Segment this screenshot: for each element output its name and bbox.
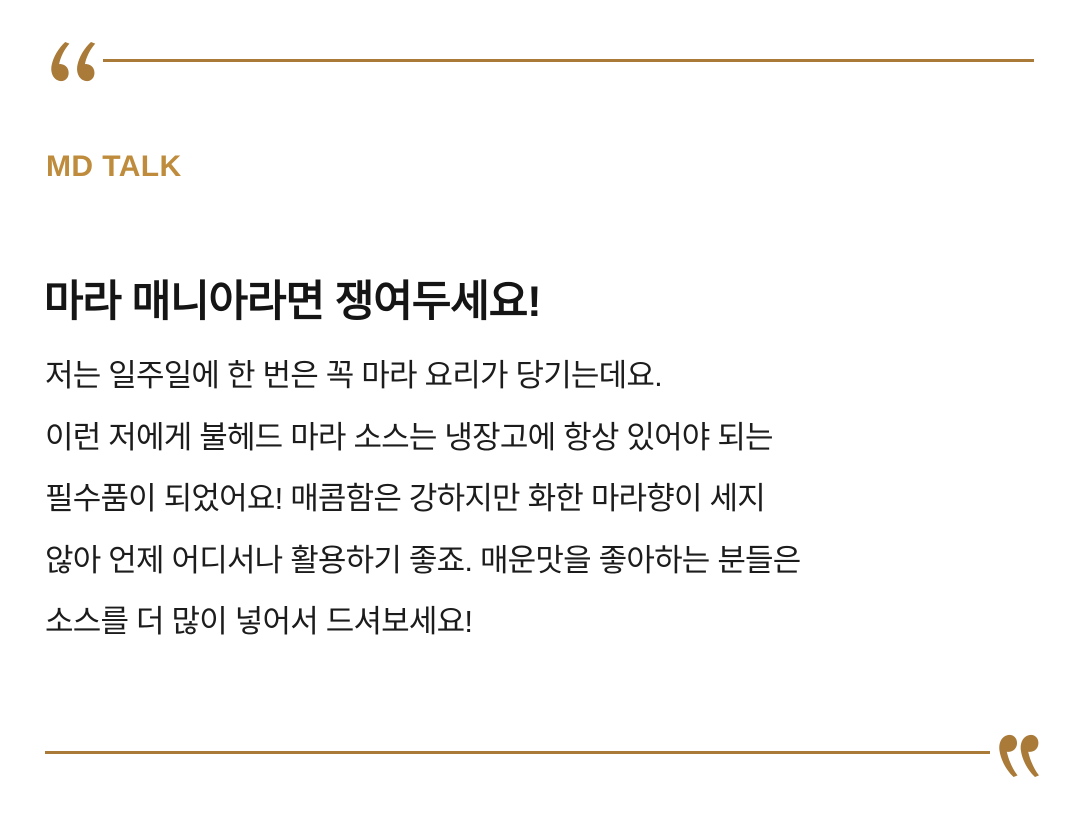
body-line: 이런 저에게 불헤드 마라 소스는 냉장고에 항상 있어야 되는: [45, 407, 1045, 469]
md-talk-card: MD TALK 마라 매니아라면 쟁여두세요! 저는 일주일에 한 번은 꼭 마…: [0, 0, 1080, 818]
body-line: 필수품이 되었어요! 매콤함은 강하지만 화한 마라향이 세지: [45, 468, 1045, 530]
body-line: 소스를 더 많이 넣어서 드셔보세요!: [45, 591, 1045, 653]
eyebrow-label: MD TALK: [46, 152, 182, 182]
close-quote-icon: [996, 727, 1040, 783]
body-line: 저는 일주일에 한 번은 꼭 마라 요리가 당기는데요.: [45, 345, 1045, 407]
page-title: 마라 매니아라면 쟁여두세요!: [44, 277, 540, 328]
bottom-divider: [45, 751, 990, 754]
open-quote-icon: [44, 40, 100, 84]
top-divider: [103, 59, 1034, 62]
top-decoration-row: [0, 40, 1080, 80]
body-copy: 저는 일주일에 한 번은 꼭 마라 요리가 당기는데요. 이런 저에게 불헤드 …: [45, 345, 1045, 653]
body-line: 않아 언제 어디서나 활용하기 좋죠. 매운맛을 좋아하는 분들은: [45, 530, 1045, 592]
